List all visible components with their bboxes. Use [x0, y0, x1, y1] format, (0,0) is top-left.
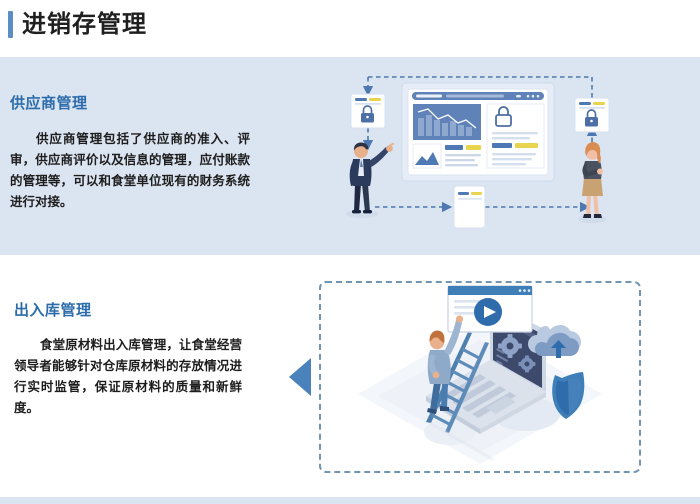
- thumbnail-card: [413, 144, 441, 168]
- page-root: 进销存管理 供应商管理 供应商管理包括了供应商的准入、评审，供应商评价以及信息的…: [0, 0, 700, 504]
- document-card-right: [575, 98, 609, 132]
- lock-panel: [487, 104, 544, 168]
- document-card-left: [351, 94, 385, 128]
- section-supplier-heading: 供应商管理: [10, 92, 88, 113]
- warehouse-laptop-illustration: [330, 282, 630, 472]
- frame-pointer-triangle: [289, 358, 311, 396]
- section-supplier-body: 供应商管理包括了供应商的准入、评审，供应商评价以及信息的管理，应付账款的管理等，…: [10, 128, 250, 212]
- page-title: 进销存管理: [22, 8, 147, 41]
- header-accent-bar: [8, 11, 13, 38]
- dashboard-window: [402, 83, 554, 181]
- document-card-bottom: [454, 186, 485, 228]
- businesswoman-figure: [578, 142, 606, 223]
- supplier-dashboard-illustration: [320, 66, 630, 246]
- section-inout-body: 食堂原材料出入库管理，让食堂经营领导者能够针对仓库原材料的存放情况进行实时监管，…: [14, 334, 242, 418]
- page-header: 进销存管理: [0, 0, 700, 57]
- bottom-strip: [0, 497, 700, 504]
- bar-line-chart-panel: [413, 104, 481, 140]
- section-inout-heading: 出入库管理: [14, 299, 92, 320]
